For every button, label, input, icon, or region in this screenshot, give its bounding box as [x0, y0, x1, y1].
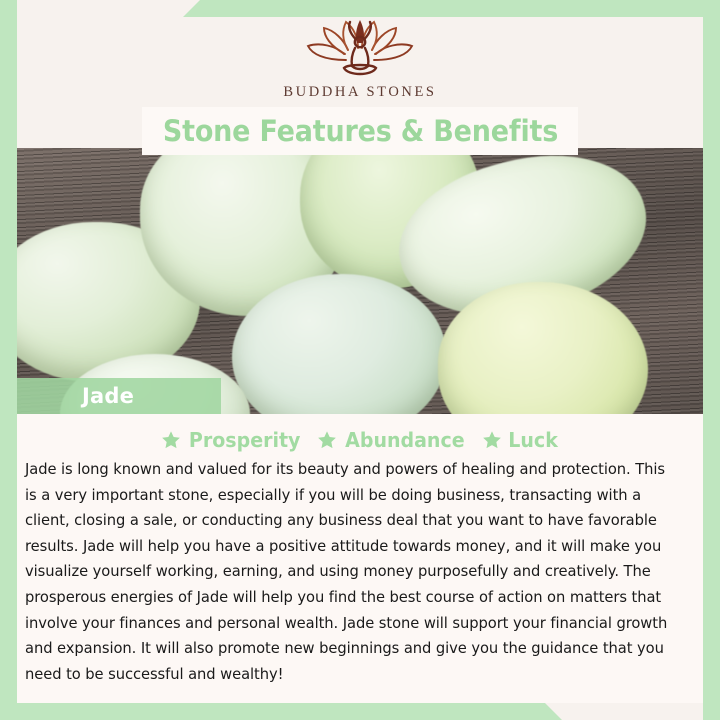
benefit-label: Abundance: [345, 428, 464, 452]
brand-logo: BUDDHA STONES: [0, 16, 720, 106]
star-icon: [317, 430, 337, 450]
star-icon: [161, 430, 181, 450]
lotus-meditation-figure-icon: [300, 16, 420, 82]
stone-description: Jade is long known and valued for its be…: [25, 457, 676, 687]
benefit-item: Luck: [482, 428, 559, 452]
section-title-band: Stone Features & Benefits: [142, 107, 578, 155]
frame-right-accent: [703, 0, 720, 720]
brand-wordmark: BUDDHA STONES: [283, 84, 436, 101]
stone-name-band: Jade: [17, 378, 221, 414]
benefit-label: Prosperity: [189, 428, 301, 452]
benefit-item: Abundance: [317, 428, 468, 452]
benefit-label: Luck: [508, 428, 558, 452]
frame-left-accent: [0, 0, 17, 720]
benefits-list: Prosperity Abundance Luck: [17, 414, 703, 452]
star-icon: [482, 430, 502, 450]
stone-name-label: Jade: [82, 384, 134, 408]
page-title: Stone Features & Benefits: [162, 114, 557, 148]
jade-stones-photo: [0, 148, 720, 414]
stone-features-infographic: BUDDHA STONES Stone Features & Benefits …: [0, 0, 720, 720]
benefit-item: Prosperity: [161, 428, 303, 452]
content-panel: Prosperity Abundance Luck Jade is long k…: [17, 414, 703, 703]
